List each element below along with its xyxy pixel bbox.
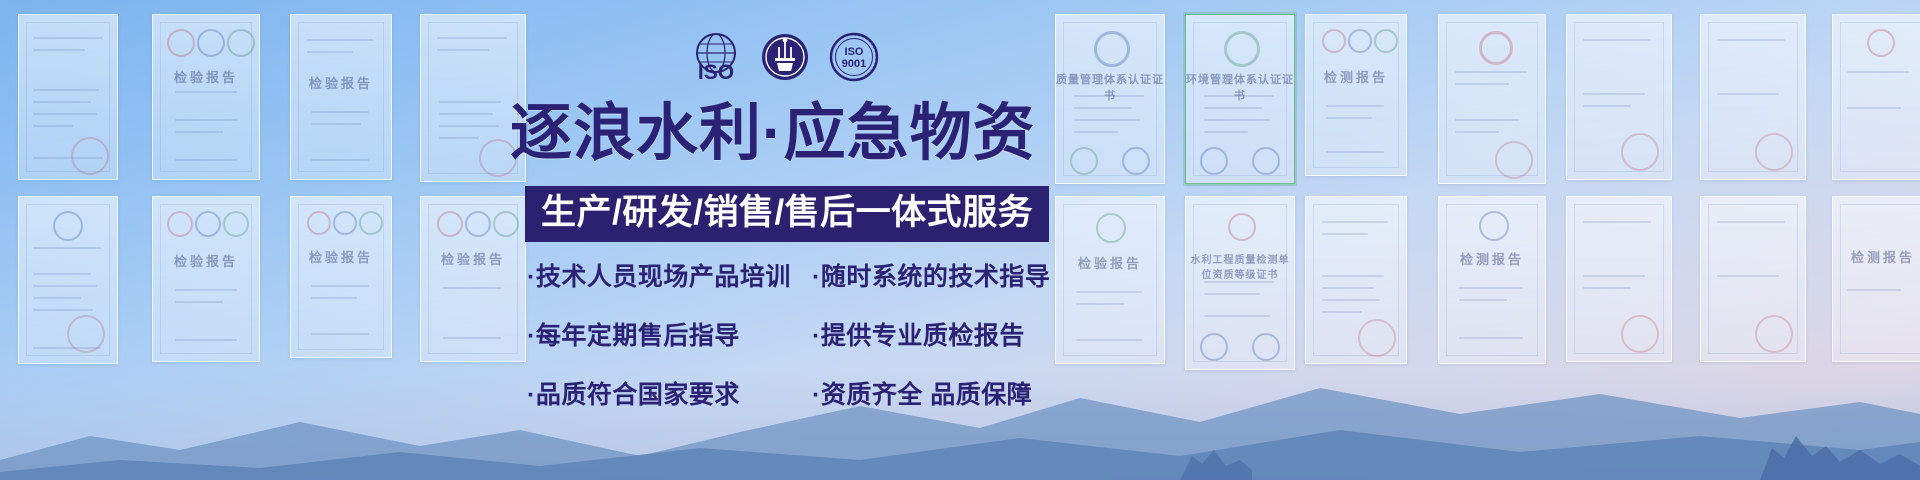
feature-row: ·品质符合国家要求 ·资质齐全 品质保障 (527, 363, 1087, 422)
certificate-thumbnail (1566, 14, 1672, 180)
feature-item: ·品质符合国家要求 (527, 375, 812, 411)
main-title: 逐浪水利·应急物资 (510, 98, 1095, 170)
feature-item: ·提供专业质检报告 (812, 316, 1082, 352)
certificate-thumbnail (1700, 14, 1806, 180)
feature-item: ·随时系统的技术指导 (812, 257, 1082, 293)
certificate-thumbnail (1832, 14, 1920, 180)
subtitle-text: 生产/研发/销售/售后一体式服务 (541, 193, 1033, 232)
banner-text-block: 逐浪水利·应急物资 生产/研发/销售/售后一体式服务 ·技术人员现场产品培训 ·… (505, 0, 1105, 480)
certificate-thumbnail: 检验报告 (290, 14, 392, 180)
feature-item: ·每年定期售后指导 (527, 316, 812, 352)
feature-list: ·技术人员现场产品培训 ·随时系统的技术指导 ·每年定期售后指导 ·提供专业质检… (527, 245, 1087, 422)
feature-row: ·技术人员现场产品培训 ·随时系统的技术指导 (527, 245, 1087, 304)
subtitle-bar: 生产/研发/销售/售后一体式服务 (525, 186, 1049, 242)
feature-item: ·技术人员现场产品培训 (527, 257, 812, 293)
feature-row: ·每年定期售后指导 ·提供专业质检报告 (527, 304, 1087, 363)
certificate-thumbnail: 检测报告 (1305, 14, 1407, 176)
feature-item: ·资质齐全 品质保障 (812, 375, 1082, 411)
certificate-thumbnail (1438, 14, 1546, 184)
certificate-thumbnail: 环境管理体系认证证书 (1185, 14, 1295, 184)
certificate-thumbnail (18, 14, 118, 180)
promo-banner: 检验报告 检验报告 质量管理体 (0, 0, 1920, 480)
certificate-thumbnail: 检验报告 (152, 14, 260, 180)
